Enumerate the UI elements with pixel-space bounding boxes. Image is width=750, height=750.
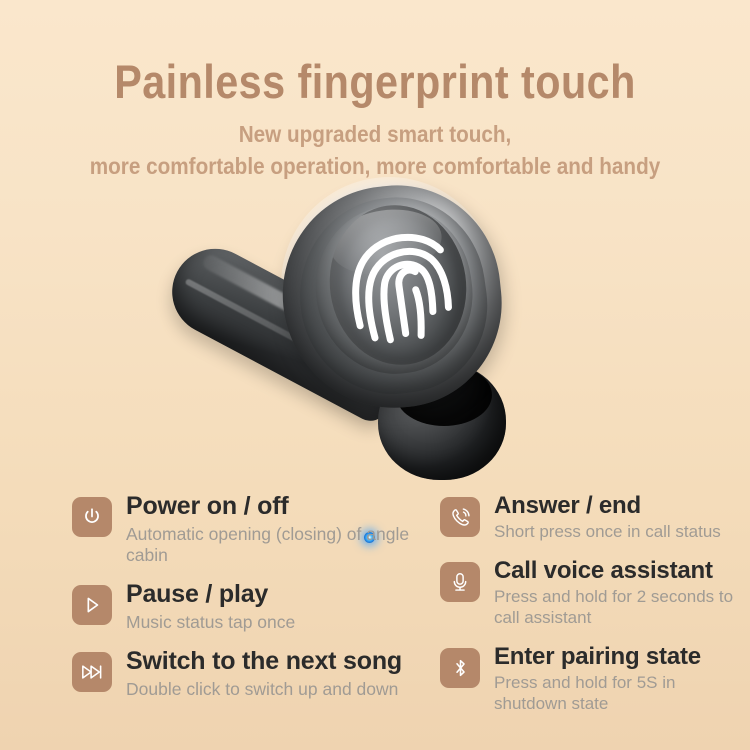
subtitle-line-1: New upgraded smart touch, bbox=[38, 118, 713, 151]
feature-name: Pause / play bbox=[126, 580, 295, 609]
feature-text: Power on / off Automatic opening (closin… bbox=[112, 492, 416, 566]
feature-text: Answer / end Short press once in call st… bbox=[480, 492, 721, 543]
subtitle: New upgraded smart touch, more comfortab… bbox=[38, 109, 713, 183]
feature-next-song: Switch to the next song Double click to … bbox=[72, 647, 432, 700]
phone-call-icon bbox=[449, 506, 472, 529]
power-icon bbox=[81, 506, 103, 528]
phone-call-icon-badge bbox=[440, 497, 480, 537]
page-title: Painless fingerprint touch bbox=[45, 0, 705, 109]
feature-text: Enter pairing state Press and hold for 5… bbox=[480, 643, 740, 715]
microphone-icon-badge bbox=[440, 562, 480, 602]
fingerprint-icon bbox=[332, 209, 466, 364]
feature-description: Press and hold for 2 seconds to call ass… bbox=[494, 584, 740, 628]
feature-name: Call voice assistant bbox=[494, 557, 740, 584]
next-track-icon bbox=[80, 661, 104, 683]
feature-name: Enter pairing state bbox=[494, 643, 740, 670]
feature-name: Switch to the next song bbox=[126, 647, 402, 676]
feature-description: Automatic opening (closing) of angle cab… bbox=[126, 521, 416, 567]
feature-column-right: Answer / end Short press once in call st… bbox=[440, 492, 740, 729]
subtitle-line-2: more comfortable operation, more comfort… bbox=[38, 150, 713, 183]
play-icon bbox=[81, 594, 103, 616]
microphone-icon bbox=[449, 571, 471, 593]
feature-text: Pause / play Music status tap once bbox=[112, 580, 295, 633]
feature-column-left: Power on / off Automatic opening (closin… bbox=[72, 492, 432, 714]
power-icon-badge bbox=[72, 497, 112, 537]
feature-text: Call voice assistant Press and hold for … bbox=[480, 557, 740, 629]
feature-name: Power on / off bbox=[126, 492, 416, 521]
feature-answer-end: Answer / end Short press once in call st… bbox=[440, 492, 740, 543]
product-feature-poster: Painless fingerprint touch New upgraded … bbox=[0, 0, 750, 750]
feature-description: Music status tap once bbox=[126, 609, 295, 633]
bluetooth-icon-badge bbox=[440, 648, 480, 688]
feature-voice-assistant: Call voice assistant Press and hold for … bbox=[440, 557, 740, 629]
header: Painless fingerprint touch New upgraded … bbox=[0, 0, 750, 183]
play-icon-badge bbox=[72, 585, 112, 625]
next-track-icon-badge bbox=[72, 652, 112, 692]
feature-description: Short press once in call status bbox=[494, 519, 721, 543]
feature-pairing-state: Enter pairing state Press and hold for 5… bbox=[440, 643, 740, 715]
feature-description: Double click to switch up and down bbox=[126, 676, 402, 700]
product-illustration bbox=[0, 150, 750, 510]
feature-power-on-off: Power on / off Automatic opening (closin… bbox=[72, 492, 432, 566]
feature-description: Press and hold for 5S in shutdown state bbox=[494, 670, 740, 714]
feature-name: Answer / end bbox=[494, 492, 721, 519]
feature-pause-play: Pause / play Music status tap once bbox=[72, 580, 432, 633]
bluetooth-icon bbox=[450, 657, 471, 679]
feature-text: Switch to the next song Double click to … bbox=[112, 647, 402, 700]
